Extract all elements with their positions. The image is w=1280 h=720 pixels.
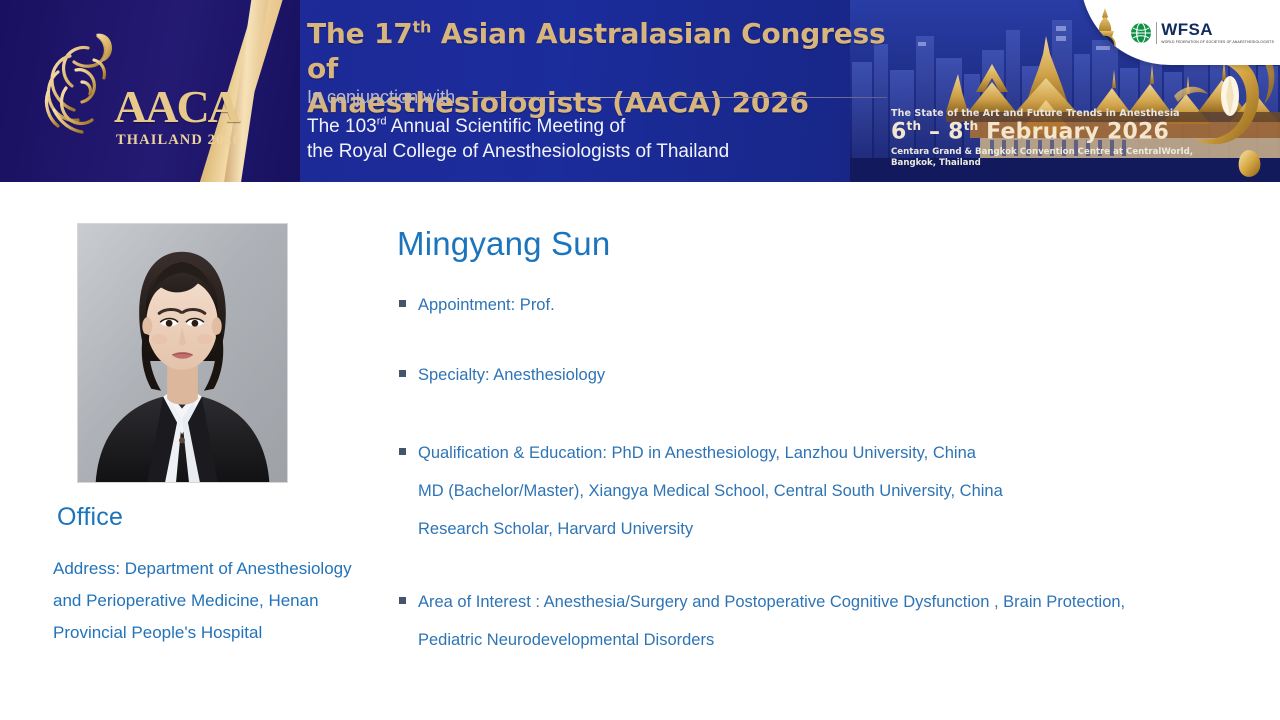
event-info-block: The State of the Art and Future Trends i… [891,108,1221,169]
bullet-line: Appointment: Prof. [418,294,1198,316]
bullet-line: Pediatric Neurodevelopmental Disorders [418,629,1198,651]
speaker-details-list: Appointment: Prof. Specialty: Anesthesio… [398,294,1198,651]
event-venue-line1: Centara Grand & Bangkok Convention Centr… [891,147,1193,157]
list-item: Appointment: Prof. [398,294,1198,316]
in-conjunction-row: In conjunction with [307,87,887,108]
wfsa-name: WFSA [1161,20,1213,39]
bullet-line: Area of Interest : Anesthesia/Surgery an… [418,591,1198,613]
bullet-line: Qualification & Education: PhD in Anesth… [418,442,1198,464]
spacer [398,386,1198,442]
wfsa-globe-icon [1130,22,1152,44]
aaca-logo: AACA THAILAND 2026 [36,22,231,162]
spacer [398,316,1198,364]
event-venue-line2: Bangkok, Thailand [891,158,981,168]
list-item: Specialty: Anesthesiology [398,364,1198,386]
bullet-line: Specialty: Anesthesiology [418,364,1198,386]
banner-subtitle: The 103rd Annual Scientific Meeting of t… [307,114,867,164]
wfsa-subtitle: WORLD FEDERATION OF SOCIETIES OF ANAESTH… [1161,41,1274,44]
wfsa-logo: WFSA WORLD FEDERATION OF SOCIETIES OF AN… [1130,21,1274,44]
wfsa-divider [1156,22,1157,44]
page-title: Mingyang Sun [397,225,610,263]
wfsa-text: WFSA WORLD FEDERATION OF SOCIETIES OF AN… [1161,21,1274,44]
aaca-wordmark: AACA [114,84,239,130]
event-venue: Centara Grand & Bangkok Convention Centr… [891,147,1221,170]
divider-rule [469,97,887,98]
speaker-portrait [77,223,288,483]
banner-subtitle-line1: The 103rd Annual Scientific Meeting of [307,116,625,137]
office-heading: Office [57,503,123,532]
bullet-line: Research Scholar, Harvard University [418,518,1198,540]
in-conjunction-label: In conjunction with [307,87,455,108]
royal-college-emblem-icon [1090,7,1120,59]
event-date: 6th – 8th February 2026 [891,120,1221,145]
event-theme: The State of the Art and Future Trends i… [891,108,1221,119]
office-address: Address: Department of Anesthesiology an… [53,553,383,649]
banner-title-line1: The 17th Asian Australasian Congress of [307,17,885,85]
slide-root: AACA THAILAND 2026 The 17th Asian Austra… [0,0,1280,720]
bullet-line: MD (Bachelor/Master), Xiangya Medical Sc… [418,480,1198,502]
congress-banner: AACA THAILAND 2026 The 17th Asian Austra… [0,0,1280,182]
spacer [398,540,1198,591]
society-logos-panel: WFSA WORLD FEDERATION OF SOCIETIES OF AN… [1080,0,1280,65]
list-item: Qualification & Education: PhD in Anesth… [398,442,1198,540]
banner-subtitle-line2: the Royal College of Anesthesiologists o… [307,141,729,162]
list-item: Area of Interest : Anesthesia/Surgery an… [398,591,1198,651]
aaca-country-year: THAILAND 2026 [116,132,241,149]
